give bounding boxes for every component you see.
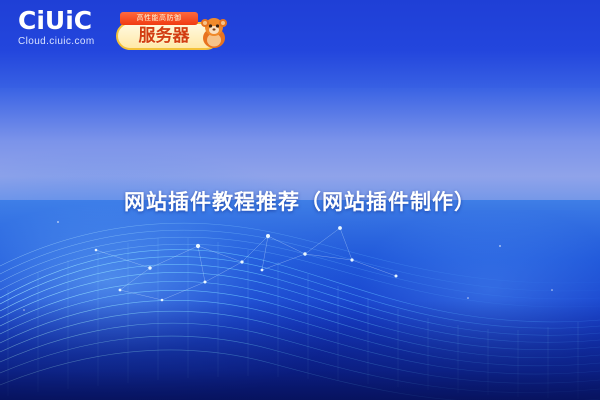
banner-image: CiUiC Cloud.ciuic.com 高性能高防御 服务器 网站插件教程推… (0, 0, 600, 400)
badge-ribbon-text: 高性能高防御 (120, 12, 198, 25)
background-bottom-shade (0, 300, 600, 400)
page-title: 网站插件教程推荐（网站插件制作） (0, 186, 600, 216)
badge-label: 服务器 (124, 27, 204, 46)
server-badge: 高性能高防御 服务器 (116, 12, 234, 52)
mascot-icon (194, 14, 234, 52)
site-logo[interactable]: CiUiC Cloud.ciuic.com 高性能高防御 服务器 (18, 8, 248, 60)
